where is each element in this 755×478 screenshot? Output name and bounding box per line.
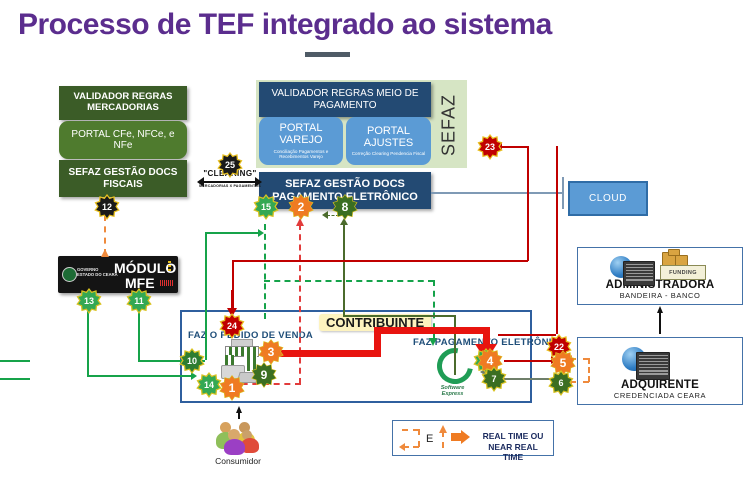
validador-regras-meio-pagamento-box[interactable]: VALIDADOR REGRAS MEIO DE PAGAMENTO (259, 82, 431, 117)
governo-ceara-label: GOVERNO ESTADO DO CEARÁ (77, 267, 118, 277)
portal-cfe-nfce-nfe-box[interactable]: PORTAL CFe, NFCe, e NFe (59, 121, 187, 159)
clearing-arrow-line (203, 181, 258, 183)
badge-13[interactable]: 13 (76, 288, 102, 314)
legend-e-label: E (426, 433, 433, 445)
badge-11[interactable]: 11 (126, 288, 152, 314)
badge-25[interactable]: 25 (217, 152, 243, 178)
portal-varejo-box[interactable]: PORTAL VAREJO Conciliação Pagamentos e R… (259, 117, 343, 165)
badge-3-value: 3 (259, 340, 283, 364)
portal-varejo-subtitle: Conciliação Pagamentos e Recebimentos Va… (261, 149, 341, 160)
administradora-subtitle: BANDEIRA - BANCO (620, 291, 701, 300)
legend-vertical-dashed (442, 431, 444, 448)
line-12-arrow (101, 249, 109, 257)
badge-2-value: 2 (289, 195, 313, 219)
legend-dashed-bottom (403, 446, 419, 448)
server-icon-adquirente (636, 352, 670, 380)
adquirente-subtitle: CREDENCIADA CEARA (614, 391, 706, 400)
badge-1[interactable]: 1 (219, 375, 245, 401)
legend-dashed-right (418, 429, 420, 447)
line-13-right (87, 375, 192, 377)
thick-red-seg-1 (271, 350, 381, 357)
badge-9-value: 9 (252, 363, 276, 387)
badge-6[interactable]: 6 (548, 370, 574, 396)
legend-dashed-arrow-head (399, 443, 405, 451)
portal-ajustes-subtitle: Correção Clearing Pendencia Fiscal (352, 151, 426, 157)
modulo-label: MÓDULO (114, 260, 176, 276)
title-underline-rule (305, 52, 350, 57)
administradora-title: ADMINISTRADORA (606, 279, 715, 291)
server-icon (623, 261, 655, 286)
portal-cfe-label: PORTAL CFe, NFCe, e NFe (63, 129, 183, 151)
adquirente-title: ADQUIRENTE (621, 379, 699, 391)
line-15-horizontal (205, 232, 260, 234)
software-express-logo: Software Express (432, 348, 473, 397)
adquirente-box[interactable]: ADQUIRENTE CREDENCIADA CEARA (577, 337, 743, 405)
validador-regras-mercadorias-box[interactable]: VALIDADOR REGRAS MERCADORIAS (59, 86, 187, 120)
line-23-vertical (527, 146, 529, 261)
mfe-barcode-icon (160, 280, 174, 286)
line-15-vertical (205, 232, 207, 360)
badge-2[interactable]: 2 (288, 194, 314, 220)
line-2-dashed-down (299, 224, 301, 384)
consumidor-label: Consumidor (200, 456, 276, 466)
line-14-in-left (0, 378, 30, 380)
line-15-dashed-down (264, 224, 266, 319)
loop-orange-vertical (588, 358, 590, 382)
thick-red-seg-3 (374, 327, 490, 334)
cloud-box[interactable]: CLOUD (568, 181, 648, 216)
badge-1-value: 1 (220, 376, 244, 400)
portal-varejo-title: PORTAL VAREJO (261, 122, 341, 147)
badge-12[interactable]: 12 (94, 194, 120, 220)
sefaz-gestao-docs-fiscais-box[interactable]: SEFAZ GESTÃO DOCS FISCAIS (59, 160, 187, 197)
badge-15[interactable]: 15 (253, 194, 279, 220)
line-adquirente-arrow (657, 306, 663, 313)
legend-vertical-arrow-head (439, 425, 447, 433)
consumidor-icon (212, 418, 264, 454)
line-7-down (454, 315, 456, 375)
governo-ceara-seal-icon (62, 267, 77, 282)
validador-meio-pagamento-label: VALIDADOR REGRAS MEIO DE PAGAMENTO (263, 88, 427, 110)
cloud-label: CLOUD (589, 193, 627, 204)
clearing-sublabel: MERCADORIAS X PAGAMENTOS (194, 184, 266, 188)
badge-23[interactable]: 23 (477, 134, 503, 160)
legend-solid-arrow-head (461, 430, 470, 444)
line-15-dashed-right (264, 280, 434, 282)
badge-9[interactable]: 9 (251, 362, 277, 388)
sefaz-docs-fiscais-label: SEFAZ GESTÃO DOCS FISCAIS (63, 167, 183, 189)
legend-dashed-top (402, 429, 419, 431)
portal-ajustes-title: PORTAL AJUSTES (348, 125, 429, 150)
sefaz-vertical-label: SEFAZ (437, 88, 461, 162)
portal-ajustes-box[interactable]: PORTAL AJUSTES Correção Clearing Pendenc… (346, 117, 431, 165)
page-title: Processo de TEF integrado ao sistema (18, 8, 552, 42)
badge-24[interactable]: 24 (219, 313, 245, 339)
line-23-horizontal-mid (232, 260, 528, 262)
mfe-dots-icon (168, 261, 171, 273)
funding-badge: FUNDING (660, 265, 706, 280)
line-8-small-arrow (322, 211, 328, 219)
line-10-in-left (0, 360, 30, 362)
line-22-vertical (556, 146, 558, 334)
badge-8-value: 8 (333, 195, 357, 219)
legend-box: E REAL TIME OU NEAR REAL TIME (392, 420, 554, 456)
badge-8[interactable]: 8 (332, 194, 358, 220)
cloud-connector-horizontal (431, 192, 563, 194)
administradora-box[interactable]: FUNDING ADMINISTRADORA BANDEIRA - BANCO (577, 247, 743, 305)
line-adquirente-to-administradora (659, 312, 661, 334)
badge-10[interactable]: 10 (179, 348, 205, 374)
line-8-right (343, 315, 455, 317)
line-4-to-5 (504, 360, 554, 362)
validador-regras-mercadorias-label: VALIDADOR REGRAS MERCADORIAS (63, 92, 183, 113)
line-16-dashed-arrow (429, 338, 437, 346)
legend-text: REAL TIME OU NEAR REAL TIME (478, 431, 548, 463)
badge-7[interactable]: 7 (481, 366, 507, 392)
line-8-down (343, 224, 345, 316)
coin-stack-icon-3 (668, 249, 680, 256)
